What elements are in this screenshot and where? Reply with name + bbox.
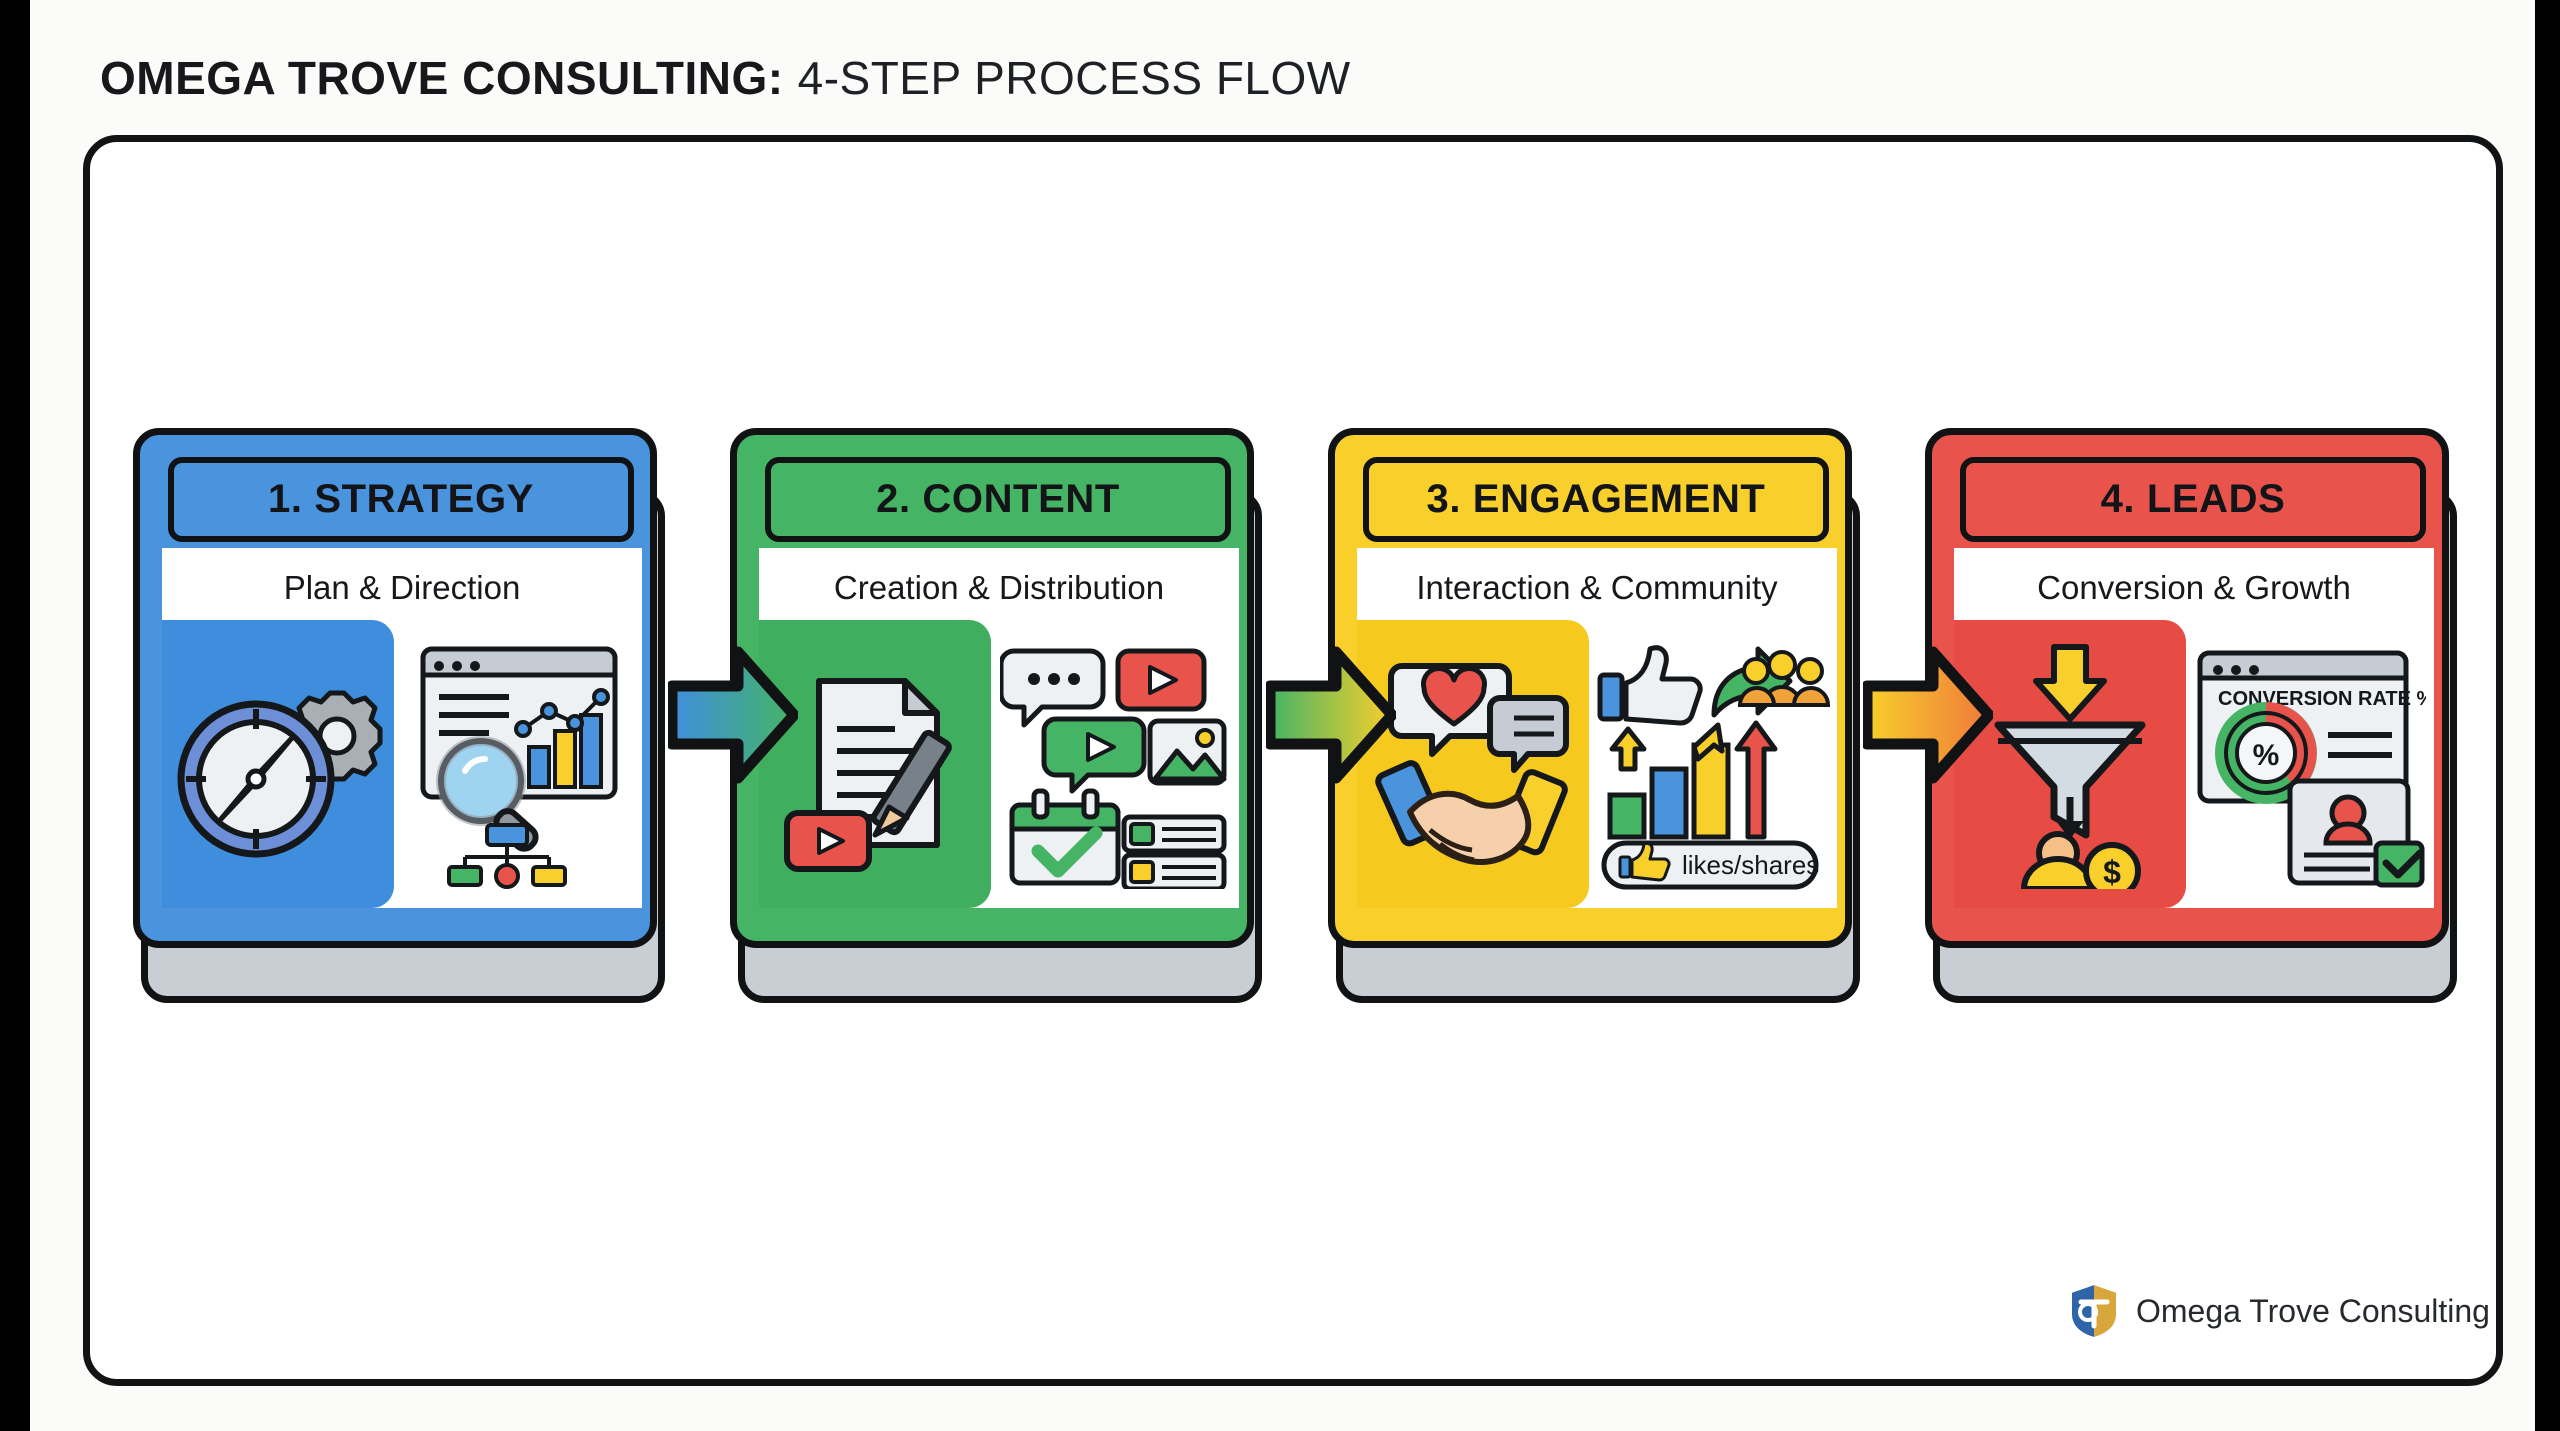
list-card-icon	[1124, 817, 1224, 889]
icon-panel-right: CONVERSION RATE % %	[2186, 620, 2434, 908]
card-body-content	[759, 620, 1239, 908]
org-chart-icon	[449, 825, 565, 887]
chat-bubble-icon	[1001, 651, 1103, 725]
compass-icon	[181, 704, 331, 854]
shield-monogram-logo	[2068, 1282, 2120, 1340]
video-chat-icon	[1044, 719, 1144, 791]
video-play-icon	[787, 813, 869, 869]
handshake-icon	[1376, 760, 1567, 861]
likes-shares-label: likes/shares	[1682, 850, 1819, 880]
green-check-icon	[2376, 843, 2422, 885]
card-body-leads: $ CONVERSION RATE %	[1954, 620, 2434, 908]
card-subtitle-content: Creation & Distribution	[759, 548, 1239, 628]
connector-arrow-engagement-to-leads	[1863, 640, 1993, 790]
percent-icon: %	[2253, 739, 2280, 772]
calendar-check-icon	[1012, 791, 1118, 883]
growth-bar-chart-icon	[1610, 723, 1775, 837]
thumbs-up-icon	[1600, 647, 1700, 722]
footer-brand: Omega Trove Consulting	[2068, 1282, 2490, 1340]
step-heading: 3. ENGAGEMENT	[1427, 477, 1766, 522]
step-heading: 2. CONTENT	[876, 477, 1120, 522]
icon-panel-right	[394, 620, 642, 908]
page-title: OMEGA TROVE CONSULTING: 4-STEP PROCESS F…	[100, 44, 2300, 112]
chat-bubble-icon	[1490, 698, 1566, 770]
card-engagement[interactable]: 3. ENGAGEMENT Interaction & Community	[1328, 428, 1852, 948]
step-heading: 4. LEADS	[2101, 477, 2286, 522]
connector-arrow-strategy-to-content	[668, 640, 798, 790]
card-header-content: 2. CONTENT	[765, 457, 1231, 542]
card-header-leads: 4. LEADS	[1960, 457, 2426, 542]
image-icon	[1150, 721, 1224, 783]
people-group-icon	[1740, 652, 1828, 705]
card-header-strategy: 1. STRATEGY	[168, 457, 634, 542]
step-subtitle: Creation & Distribution	[834, 569, 1164, 607]
slide-canvas: OMEGA TROVE CONSULTING: 4-STEP PROCESS F…	[30, 0, 2535, 1431]
title-light: 4-STEP PROCESS FLOW	[798, 51, 1351, 105]
card-leads[interactable]: 4. LEADS Conversion & Growth	[1925, 428, 2449, 948]
likes-shares-badge: likes/shares	[1604, 843, 1819, 887]
icon-panel-right	[991, 620, 1239, 908]
card-subtitle-leads: Conversion & Growth	[1954, 548, 2434, 628]
card-strategy[interactable]: 1. STRATEGY Plan & Direction	[133, 428, 657, 948]
card-body-strategy	[162, 620, 642, 908]
card-body-engagement: likes/shares	[1357, 620, 1837, 908]
connector-arrow-content-to-engagement	[1266, 640, 1396, 790]
step-subtitle: Interaction & Community	[1416, 569, 1777, 607]
icon-panel-left	[162, 620, 394, 908]
video-play-icon	[1118, 651, 1204, 709]
step-card-strategy[interactable]: 1. STRATEGY Plan & Direction	[133, 428, 665, 1003]
step-subtitle: Plan & Direction	[284, 569, 521, 607]
icon-panel-right: likes/shares	[1589, 620, 1837, 908]
card-header-engagement: 3. ENGAGEMENT	[1363, 457, 1829, 542]
card-subtitle-engagement: Interaction & Community	[1357, 548, 1837, 628]
down-arrow-icon	[2036, 647, 2104, 719]
step-card-engagement[interactable]: 3. ENGAGEMENT Interaction & Community	[1328, 428, 1860, 1003]
person-dollar-icon: $	[2024, 834, 2138, 889]
card-content[interactable]: 2. CONTENT Creation & Distribution	[730, 428, 1254, 948]
step-heading: 1. STRATEGY	[268, 477, 534, 522]
title-strong: OMEGA TROVE CONSULTING:	[100, 51, 784, 105]
brand-name: Omega Trove Consulting	[2136, 1293, 2490, 1330]
svg-text:$: $	[2103, 854, 2121, 889]
step-card-leads[interactable]: 4. LEADS Conversion & Growth	[1925, 428, 2457, 1003]
step-subtitle: Conversion & Growth	[2037, 569, 2351, 607]
card-subtitle-strategy: Plan & Direction	[162, 548, 642, 628]
step-card-content[interactable]: 2. CONTENT Creation & Distribution	[730, 428, 1262, 1003]
